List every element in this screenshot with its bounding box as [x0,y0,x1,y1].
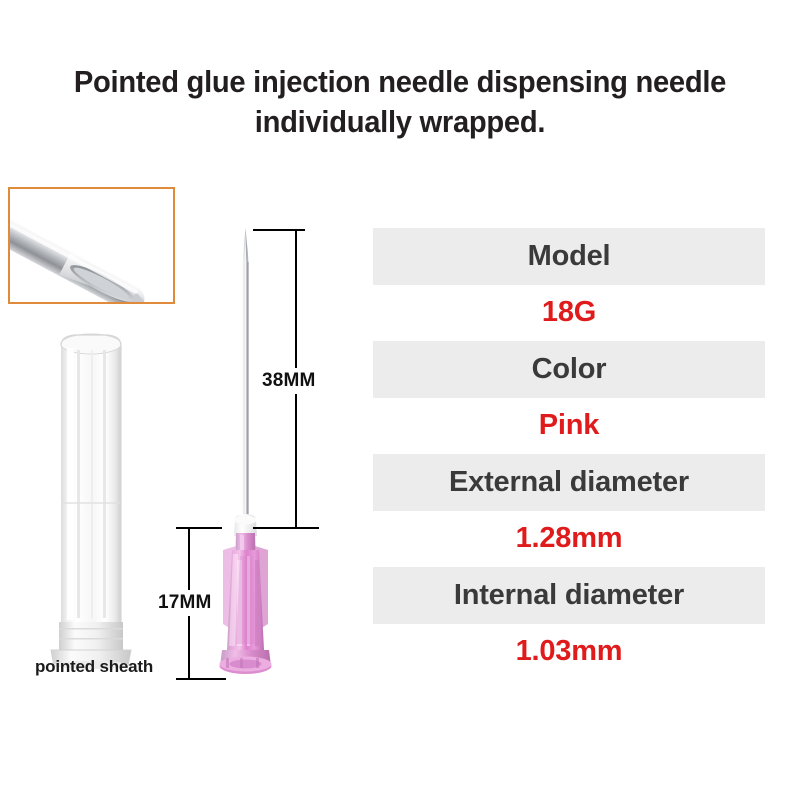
spec-value-external-diameter: 1.28mm [373,511,765,568]
spec-label-color: Color [373,341,765,398]
dim-17mm-top-tick [176,527,222,529]
specification-table: Model 18G Color Pink External diameter 1… [373,228,765,680]
needle-with-hub-icon [190,220,310,690]
dim-17mm-label: 17MM [155,590,215,616]
page-title-line-2: individually wrapped. [24,102,776,142]
sheath-icon [45,332,137,670]
dim-38mm-label: 38MM [259,368,319,394]
page-title: Pointed glue injection needle dispensing… [24,62,776,142]
spec-label-internal-diameter: Internal diameter [373,567,765,624]
spec-label-model: Model [373,228,765,285]
spec-value-model: 18G [373,285,765,342]
spec-value-color: Pink [373,398,765,455]
product-image-canvas: Pointed glue injection needle dispensing… [0,0,800,800]
needle-tip-closeup-inset [8,187,175,304]
sheath-caption: pointed sheath [14,657,174,677]
page-title-line-1: Pointed glue injection needle dispensing… [24,62,776,102]
needle-assembly-illustration [190,220,310,690]
needle-tip-icon [10,189,173,302]
dim-17mm-bottom-tick [176,678,226,680]
spec-value-internal-diameter: 1.03mm [373,624,765,681]
spec-label-external-diameter: External diameter [373,454,765,511]
dim-38mm-top-tick [253,229,305,231]
pointed-sheath-illustration [45,332,137,670]
dim-38mm-bottom-tick [253,527,319,529]
